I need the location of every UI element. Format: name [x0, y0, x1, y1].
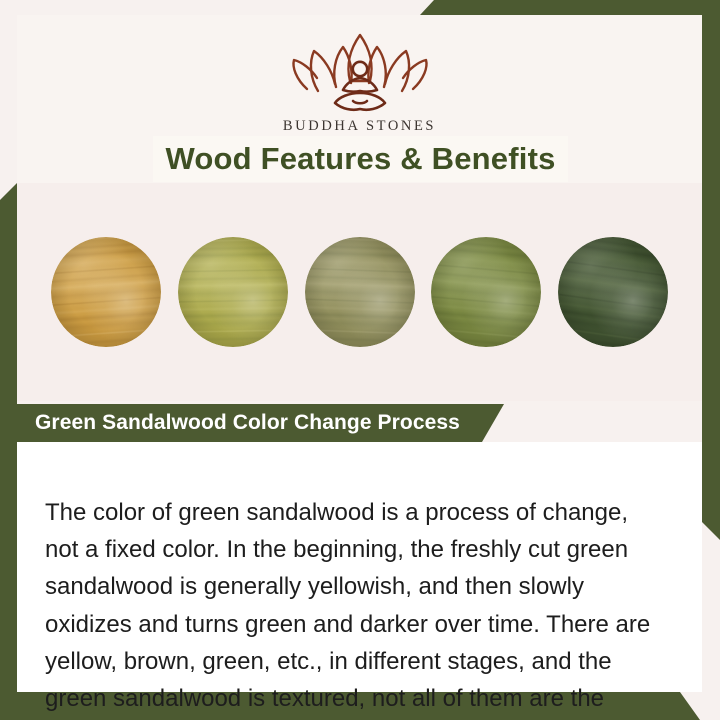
lotus-meditation-icon: [280, 29, 440, 115]
bead-sheen-3: [305, 237, 415, 347]
color-stage-strip: [17, 183, 702, 401]
brand-logo: BUDDHA STONES: [17, 29, 702, 135]
frame-accent-right: [702, 0, 720, 540]
page-title-band: Wood Features & Benefits: [153, 136, 568, 182]
bead-sheen-2: [178, 237, 288, 347]
bead-sheen-4: [431, 237, 541, 347]
bead-stage-2: [178, 237, 288, 347]
section-banner: Green Sandalwood Color Change Process: [17, 404, 504, 442]
header-section: BUDDHA STONES Wood Features & Benefits: [17, 15, 702, 183]
bead-stage-4: [431, 237, 541, 347]
infographic-poster: BUDDHA STONES Wood Features & Benefits: [0, 0, 720, 720]
frame-accent-left: [0, 183, 17, 720]
body-panel: The color of green sandalwood is a proce…: [17, 442, 702, 692]
body-paragraph: The color of green sandalwood is a proce…: [45, 494, 667, 720]
bead-stage-1: [51, 237, 161, 347]
bead-stage-3: [305, 237, 415, 347]
bead-stage-5: [558, 237, 668, 347]
bead-sheen-5: [558, 237, 668, 347]
bead-sheen-1: [51, 237, 161, 347]
frame-accent-top-right: [420, 0, 720, 15]
brand-wordmark: BUDDHA STONES: [17, 118, 702, 135]
section-banner-title: Green Sandalwood Color Change Process: [17, 411, 460, 435]
page-title: Wood Features & Benefits: [165, 141, 555, 177]
